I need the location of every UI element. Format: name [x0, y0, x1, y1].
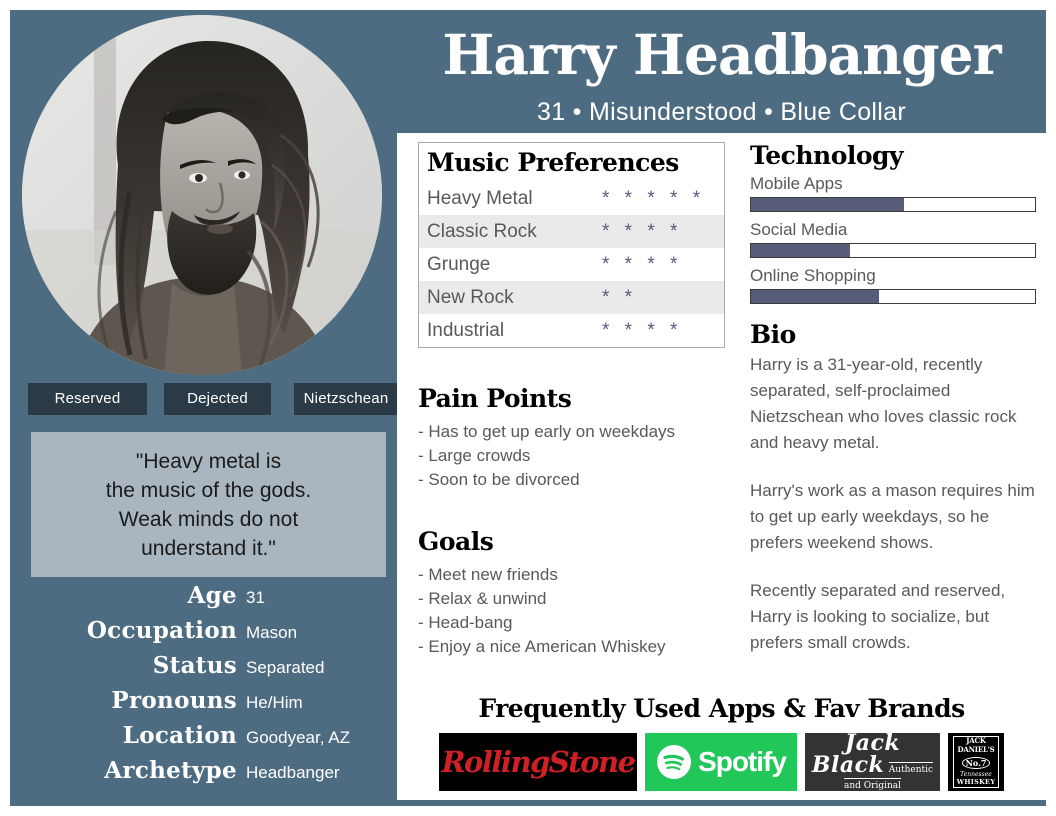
technology-item-mobile-apps: Mobile Apps — [750, 173, 1036, 212]
jack-daniels-origin: Tennessee — [960, 771, 992, 779]
music-rating-stars: * * * * — [602, 221, 682, 243]
trait-tags: Reserved Dejected Nietzschean — [22, 383, 386, 415]
table-row: New Rock * * — [419, 281, 724, 314]
table-row: Grunge * * * * — [419, 248, 724, 281]
music-preferences-table: Music Preferences Heavy Metal * * * * * … — [418, 142, 725, 348]
fact-label: Status — [22, 652, 237, 679]
technology-title: Technology — [750, 140, 1036, 171]
fact-label: Pronouns — [22, 687, 237, 714]
header: Harry Headbanger 31 • Misunderstood • Bl… — [397, 10, 1046, 133]
fact-label: Location — [22, 722, 237, 749]
fact-value: Goodyear, AZ — [246, 728, 350, 748]
left-column: Reserved Dejected Nietzschean "Heavy met… — [10, 10, 397, 806]
technology-label: Social Media — [750, 219, 1036, 241]
technology-section: Technology Mobile Apps Social Media Onli… — [750, 140, 1036, 311]
fact-row-age: Age 31 — [22, 582, 392, 612]
progress-track — [750, 243, 1036, 258]
fact-row-status: Status Separated — [22, 652, 392, 682]
fact-label: Occupation — [22, 617, 237, 644]
progress-fill — [751, 198, 904, 211]
spotify-logo[interactable]: Spotify — [645, 733, 797, 791]
trait-tag-reserved[interactable]: Reserved — [28, 383, 147, 415]
table-row: Classic Rock * * * * — [419, 215, 724, 248]
bio-title: Bio — [750, 319, 1040, 350]
music-genre-label: Grunge — [427, 254, 602, 276]
rolling-stone-logo[interactable]: RollingStone — [439, 733, 637, 791]
table-row: Industrial * * * * — [419, 314, 724, 347]
spotify-lockup: Spotify — [656, 744, 786, 780]
fact-value: He/Him — [246, 693, 303, 713]
technology-label: Mobile Apps — [750, 173, 1036, 195]
list-item: - Soon to be divorced — [418, 468, 738, 492]
jack-black-lockup: Jack Black Authentic and Original — [805, 733, 940, 791]
quote-text: "Heavy metal is the music of the gods. W… — [96, 447, 321, 563]
brands-title: Frequently Used Apps & Fav Brands — [418, 693, 1025, 725]
bio-paragraph: Recently separated and reserved, Harry i… — [750, 578, 1040, 656]
goals-section: Goals - Meet new friends - Relax & unwin… — [418, 526, 738, 659]
pain-points-title: Pain Points — [418, 383, 738, 414]
list-item: - Has to get up early on weekdays — [418, 420, 738, 444]
fact-value: Separated — [246, 658, 324, 678]
jack-daniels-brand: JACK DANIEL'S — [954, 737, 998, 755]
technology-item-online-shopping: Online Shopping — [750, 265, 1036, 304]
bio-section: Bio Harry is a 31-year-old, recently sep… — [750, 319, 1040, 678]
list-item: - Relax & unwind — [418, 587, 738, 611]
bio-paragraph: Harry is a 31-year-old, recently separat… — [750, 352, 1040, 456]
page-title: Harry Headbanger — [397, 24, 1046, 86]
jack-daniels-label: JACK DANIEL'S No.7 Tennessee WHISKEY — [953, 736, 999, 788]
technology-label: Online Shopping — [750, 265, 1036, 287]
music-rating-stars: * * * * — [602, 320, 682, 342]
fact-row-pronouns: Pronouns He/Him — [22, 687, 392, 717]
goals-title: Goals — [418, 526, 738, 557]
fact-row-archetype: Archetype Headbanger — [22, 757, 392, 787]
jack-black-wordmark: Jack Black — [812, 733, 900, 778]
music-preferences-title: Music Preferences — [419, 143, 724, 182]
jack-daniels-logo[interactable]: JACK DANIEL'S No.7 Tennessee WHISKEY — [948, 733, 1004, 791]
music-genre-label: Classic Rock — [427, 221, 602, 243]
list-item: - Head-bang — [418, 611, 738, 635]
list-item: - Enjoy a nice American Whiskey — [418, 635, 738, 659]
music-genre-label: Heavy Metal — [427, 188, 602, 210]
persona-infographic: Reserved Dejected Nietzschean "Heavy met… — [0, 0, 1056, 816]
fact-value: Mason — [246, 623, 297, 643]
rolling-stone-wordmark: RollingStone — [441, 745, 634, 779]
page-subtitle: 31 • Misunderstood • Blue Collar — [397, 97, 1046, 127]
trait-tag-dejected[interactable]: Dejected — [164, 383, 271, 415]
music-rating-stars: * * * * * — [602, 188, 705, 210]
portrait-photo — [22, 15, 382, 375]
persona-facts-list: Age 31 Occupation Mason Status Separated… — [22, 582, 392, 792]
progress-track — [750, 289, 1036, 304]
progress-track — [750, 197, 1036, 212]
brands-section: Frequently Used Apps & Fav Brands Rollin… — [418, 693, 1025, 791]
pain-points-section: Pain Points - Has to get up early on wee… — [418, 383, 738, 492]
list-item: - Meet new friends — [418, 563, 738, 587]
music-genre-label: Industrial — [427, 320, 602, 342]
brand-logo-row: RollingStone Spotify — [418, 733, 1025, 791]
spotify-icon — [656, 744, 692, 780]
jack-black-logo[interactable]: Jack Black Authentic and Original — [805, 733, 940, 791]
fact-label: Archetype — [22, 757, 237, 784]
technology-item-social-media: Social Media — [750, 219, 1036, 258]
jack-daniels-no7: No.7 — [962, 757, 991, 769]
music-rating-stars: * * * * — [602, 254, 682, 276]
fact-value: Headbanger — [246, 763, 340, 783]
bio-paragraph: Harry's work as a mason requires him to … — [750, 478, 1040, 556]
music-genre-label: New Rock — [427, 287, 602, 309]
avatar — [22, 15, 382, 375]
spotify-wordmark: Spotify — [698, 746, 786, 778]
content-panel: Music Preferences Heavy Metal * * * * * … — [397, 133, 1046, 800]
table-row: Heavy Metal * * * * * — [419, 182, 724, 215]
fact-row-occupation: Occupation Mason — [22, 617, 392, 647]
fact-value: 31 — [246, 588, 265, 608]
music-rating-stars: * * — [602, 287, 637, 309]
fact-label: Age — [22, 582, 237, 609]
trait-tag-nietzschean[interactable]: Nietzschean — [294, 383, 398, 415]
jack-daniels-type: WHISKEY — [957, 778, 996, 786]
quote-panel: "Heavy metal is the music of the gods. W… — [31, 432, 386, 577]
progress-fill — [751, 290, 879, 303]
list-item: - Large crowds — [418, 444, 738, 468]
fact-row-location: Location Goodyear, AZ — [22, 722, 392, 752]
progress-fill — [751, 244, 850, 257]
